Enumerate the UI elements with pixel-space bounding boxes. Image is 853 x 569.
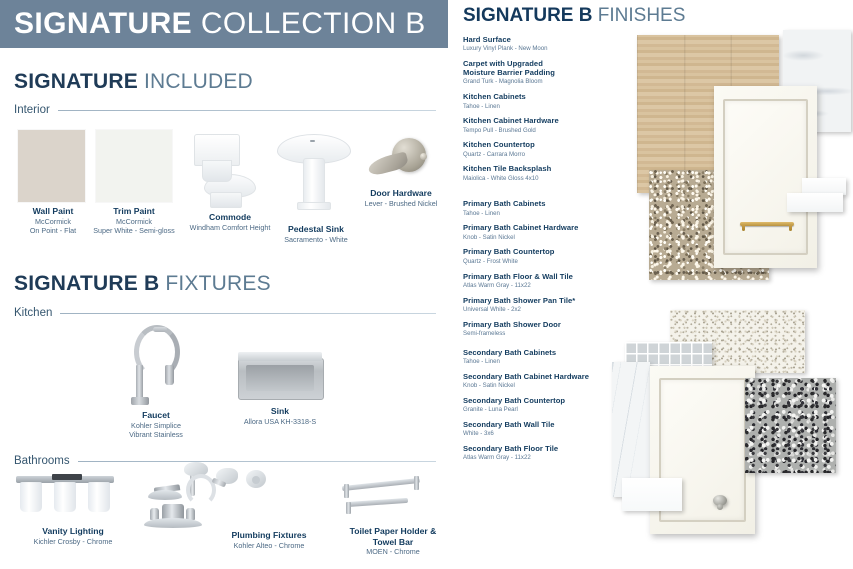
caption-toilet-paper-holder-desc1: MOEN - Chrome <box>332 547 454 556</box>
page-title-bar: SIGNATURE COLLECTION B <box>0 0 448 48</box>
caption-wall-paint: Wall Paint McCormick On Point - Flat <box>8 206 98 235</box>
finish-item: Kitchen Countertop Quartz - Carrara Morr… <box>463 141 641 158</box>
page-title: SIGNATURE COLLECTION B <box>0 7 426 41</box>
right-column: SIGNATURE B FINISHES Hard Surface Luxury… <box>450 0 853 569</box>
subhead-kitchen-label: Kitchen <box>14 307 52 319</box>
finishes-collage-upper <box>630 30 853 320</box>
swatch-wall-paint <box>18 130 85 202</box>
finishes-title: SIGNATURE B FINISHES <box>463 5 685 27</box>
finish-desc: Tahoe - Linen <box>463 210 641 218</box>
caption-faucet-desc1: Kohler Simplice <box>108 421 204 430</box>
finish-name: Kitchen Tile Backsplash <box>463 165 641 174</box>
finish-item: Primary Bath Countertop Quartz - Frost W… <box>463 248 641 265</box>
swatch-bath-cabinet-hardware-knob <box>713 495 727 506</box>
subhead-kitchen: Kitchen <box>14 307 436 319</box>
finish-item: Kitchen Cabinet Hardware Tempo Pull - Br… <box>463 117 641 134</box>
finish-desc: Knob - Satin Nickel <box>463 234 641 242</box>
caption-faucet: Faucet Kohler Simplice Vibrant Stainless <box>108 410 204 439</box>
section-title-fixtures-bold: SIGNATURE B <box>14 272 159 295</box>
finish-desc: Tempo Pull - Brushed Gold <box>463 127 641 135</box>
finish-name: Kitchen Cabinet Hardware <box>463 117 641 126</box>
finish-name: Kitchen Cabinets <box>463 93 641 102</box>
caption-plumbing-fixtures: Plumbing Fixtures Kohler Alteo - Chrome <box>210 530 328 550</box>
caption-wall-paint-desc1: McCormick <box>8 217 98 226</box>
finish-desc: Tahoe - Linen <box>463 103 641 111</box>
finish-item: Hard Surface Luxury Vinyl Plank - New Mo… <box>463 36 641 53</box>
caption-pedestal-sink: Pedestal Sink Sacramento - White <box>268 224 364 244</box>
vanity-lighting-illustration <box>10 474 120 518</box>
finish-name-line2: Moisture Barrier Padding <box>463 69 641 78</box>
caption-wall-paint-name: Wall Paint <box>8 206 98 217</box>
swatch-kitchen-cabinet-hardware-pull <box>740 222 794 226</box>
finish-name: Hard Surface <box>463 36 641 45</box>
finish-item: Primary Bath Cabinets Tahoe - Linen <box>463 200 641 217</box>
finish-item: Primary Bath Cabinet Hardware Knob - Sat… <box>463 224 641 241</box>
subhead-interior-rule <box>58 110 436 111</box>
section-title-included-light: INCLUDED <box>144 70 253 93</box>
kitchen-sink-illustration <box>238 352 322 406</box>
caption-faucet-desc2: Vibrant Stainless <box>108 430 204 439</box>
swatch-bath-wall-tile <box>612 362 650 497</box>
section-title-included-bold: SIGNATURE <box>14 70 138 93</box>
caption-sink-desc1: Allora USA KH-3318-S <box>230 417 330 426</box>
swatch-kitchen-cabinet-door <box>714 86 817 268</box>
kitchen-faucet-illustration <box>126 325 186 409</box>
finish-name: Primary Bath Cabinets <box>463 200 641 209</box>
plumbing-fixtures-illustration <box>142 462 318 528</box>
finish-desc: Grand Turk - Magnolia Bloom <box>463 78 641 86</box>
swatch-secondary-bath-countertop-granite <box>745 378 836 473</box>
subhead-interior: Interior <box>14 104 436 116</box>
section-title-included: SIGNATURE INCLUDED <box>14 70 253 94</box>
caption-plumbing-fixtures-desc1: Kohler Alteo - Chrome <box>210 541 328 550</box>
finish-name: Kitchen Countertop <box>463 141 641 150</box>
subhead-bathrooms-label: Bathrooms <box>14 455 70 467</box>
section-title-fixtures-light: FIXTURES <box>165 272 270 295</box>
section-title-fixtures: SIGNATURE B FIXTURES <box>14 272 271 296</box>
caption-vanity-lighting-desc1: Kichler Crosby - Chrome <box>10 537 136 546</box>
caption-door-hardware: Door Hardware Lever - Brushed Nickel <box>352 188 450 208</box>
finish-name: Primary Bath Floor & Wall Tile <box>463 273 641 282</box>
caption-trim-paint: Trim Paint McCormick Super White - Semi-… <box>86 206 182 235</box>
caption-wall-paint-desc2: On Point - Flat <box>8 226 98 235</box>
towel-bar-illustration <box>336 474 428 520</box>
swatch-secondary-bath-wall-tile-white <box>622 478 682 511</box>
finish-item: Primary Bath Floor & Wall Tile Atlas War… <box>463 273 641 290</box>
swatch-kitchen-backsplash-lower <box>787 193 843 212</box>
page-title-light: COLLECTION B <box>201 7 426 40</box>
finish-desc: Atlas Warm Gray - 11x22 <box>463 282 641 290</box>
page-title-bold: SIGNATURE <box>14 7 192 40</box>
finishes-collage-lower <box>600 300 853 545</box>
finish-desc: Quartz - Frost White <box>463 258 641 266</box>
caption-trim-paint-name: Trim Paint <box>86 206 182 217</box>
finish-desc: Maiolica - White Gloss 4x10 <box>463 175 641 183</box>
caption-toilet-paper-holder-name: Toilet Paper Holder & <box>332 526 454 537</box>
subhead-kitchen-rule <box>60 313 436 314</box>
caption-vanity-lighting: Vanity Lighting Kichler Crosby - Chrome <box>10 526 136 546</box>
finish-name: Primary Bath Cabinet Hardware <box>463 224 641 233</box>
finish-item: Kitchen Cabinets Tahoe - Linen <box>463 93 641 110</box>
finishes-title-light: FINISHES <box>598 5 686 26</box>
caption-door-hardware-desc1: Lever - Brushed Nickel <box>352 199 450 208</box>
caption-faucet-name: Faucet <box>108 410 204 421</box>
swatch-trim-paint <box>96 130 172 202</box>
caption-door-hardware-name: Door Hardware <box>352 188 450 199</box>
finish-name: Primary Bath Countertop <box>463 248 641 257</box>
caption-sink: Sink Allora USA KH-3318-S <box>230 406 330 426</box>
caption-sink-name: Sink <box>230 406 330 417</box>
subhead-interior-label: Interior <box>14 104 50 116</box>
finishes-title-bold: SIGNATURE B <box>463 5 592 26</box>
pedestal-sink-illustration <box>275 128 355 210</box>
caption-trim-paint-desc2: Super White - Semi-gloss <box>86 226 182 235</box>
caption-toilet-paper-holder-name2: Towel Bar <box>332 537 454 548</box>
spec-sheet-page: SIGNATURE COLLECTION B SIGNATURE INCLUDE… <box>0 0 853 569</box>
caption-pedestal-sink-desc1: Sacramento - White <box>268 235 364 244</box>
finish-item: Carpet with Upgraded Moisture Barrier Pa… <box>463 60 641 86</box>
caption-plumbing-fixtures-name: Plumbing Fixtures <box>210 530 328 541</box>
left-column: SIGNATURE COLLECTION B SIGNATURE INCLUDE… <box>0 0 450 569</box>
finish-item: Kitchen Tile Backsplash Maiolica - White… <box>463 165 641 182</box>
caption-trim-paint-desc1: McCormick <box>86 217 182 226</box>
commode-illustration <box>190 130 260 208</box>
finish-desc: Luxury Vinyl Plank - New Moon <box>463 45 641 53</box>
caption-pedestal-sink-name: Pedestal Sink <box>268 224 364 235</box>
caption-vanity-lighting-name: Vanity Lighting <box>10 526 136 537</box>
caption-toilet-paper-holder: Toilet Paper Holder & Towel Bar MOEN - C… <box>332 526 454 556</box>
finish-desc: Quartz - Carrara Morro <box>463 151 641 159</box>
caption-commode-name: Commode <box>175 212 285 223</box>
door-hardware-illustration <box>368 134 432 190</box>
